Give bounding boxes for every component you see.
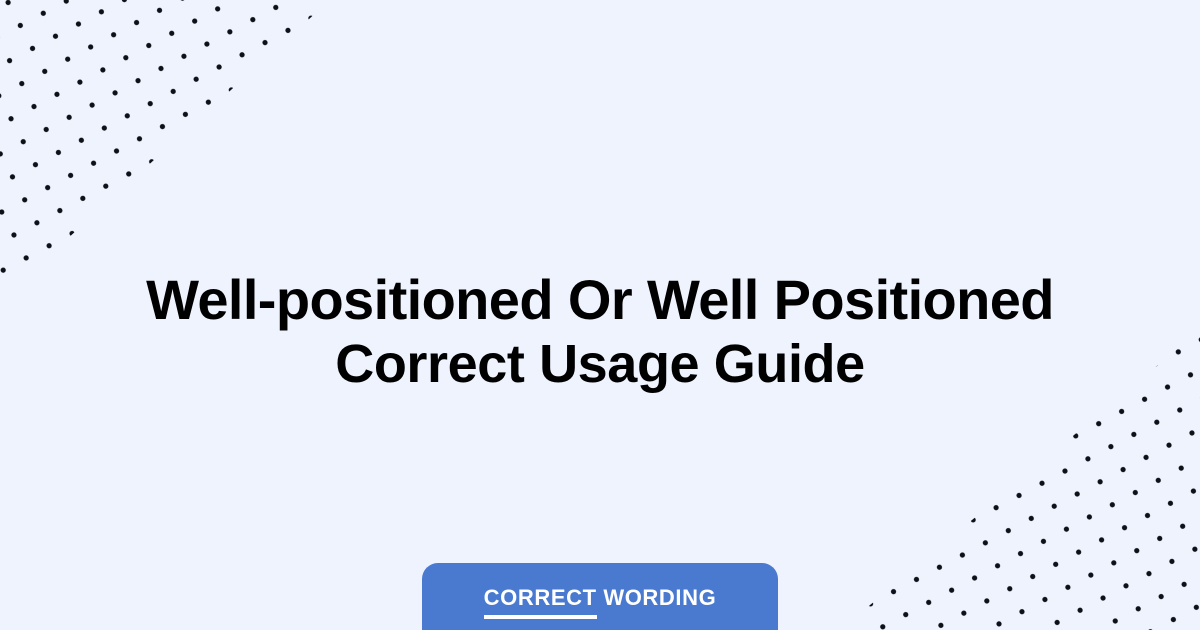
page-title: Well-positioned Or Well Positioned [40, 268, 1160, 332]
brand-button-label-rest: WORDING [597, 585, 717, 610]
brand-button-label: CORRECT WORDING [484, 585, 717, 611]
brand-button-label-accent: CORRECT [484, 585, 597, 619]
correct-wording-button[interactable]: CORRECT WORDING [422, 563, 778, 630]
page-subtitle: Correct Usage Guide [40, 332, 1160, 396]
hero-text-block: Well-positioned Or Well Positioned Corre… [0, 268, 1200, 396]
poster-canvas: Well-positioned Or Well Positioned Corre… [0, 0, 1200, 630]
